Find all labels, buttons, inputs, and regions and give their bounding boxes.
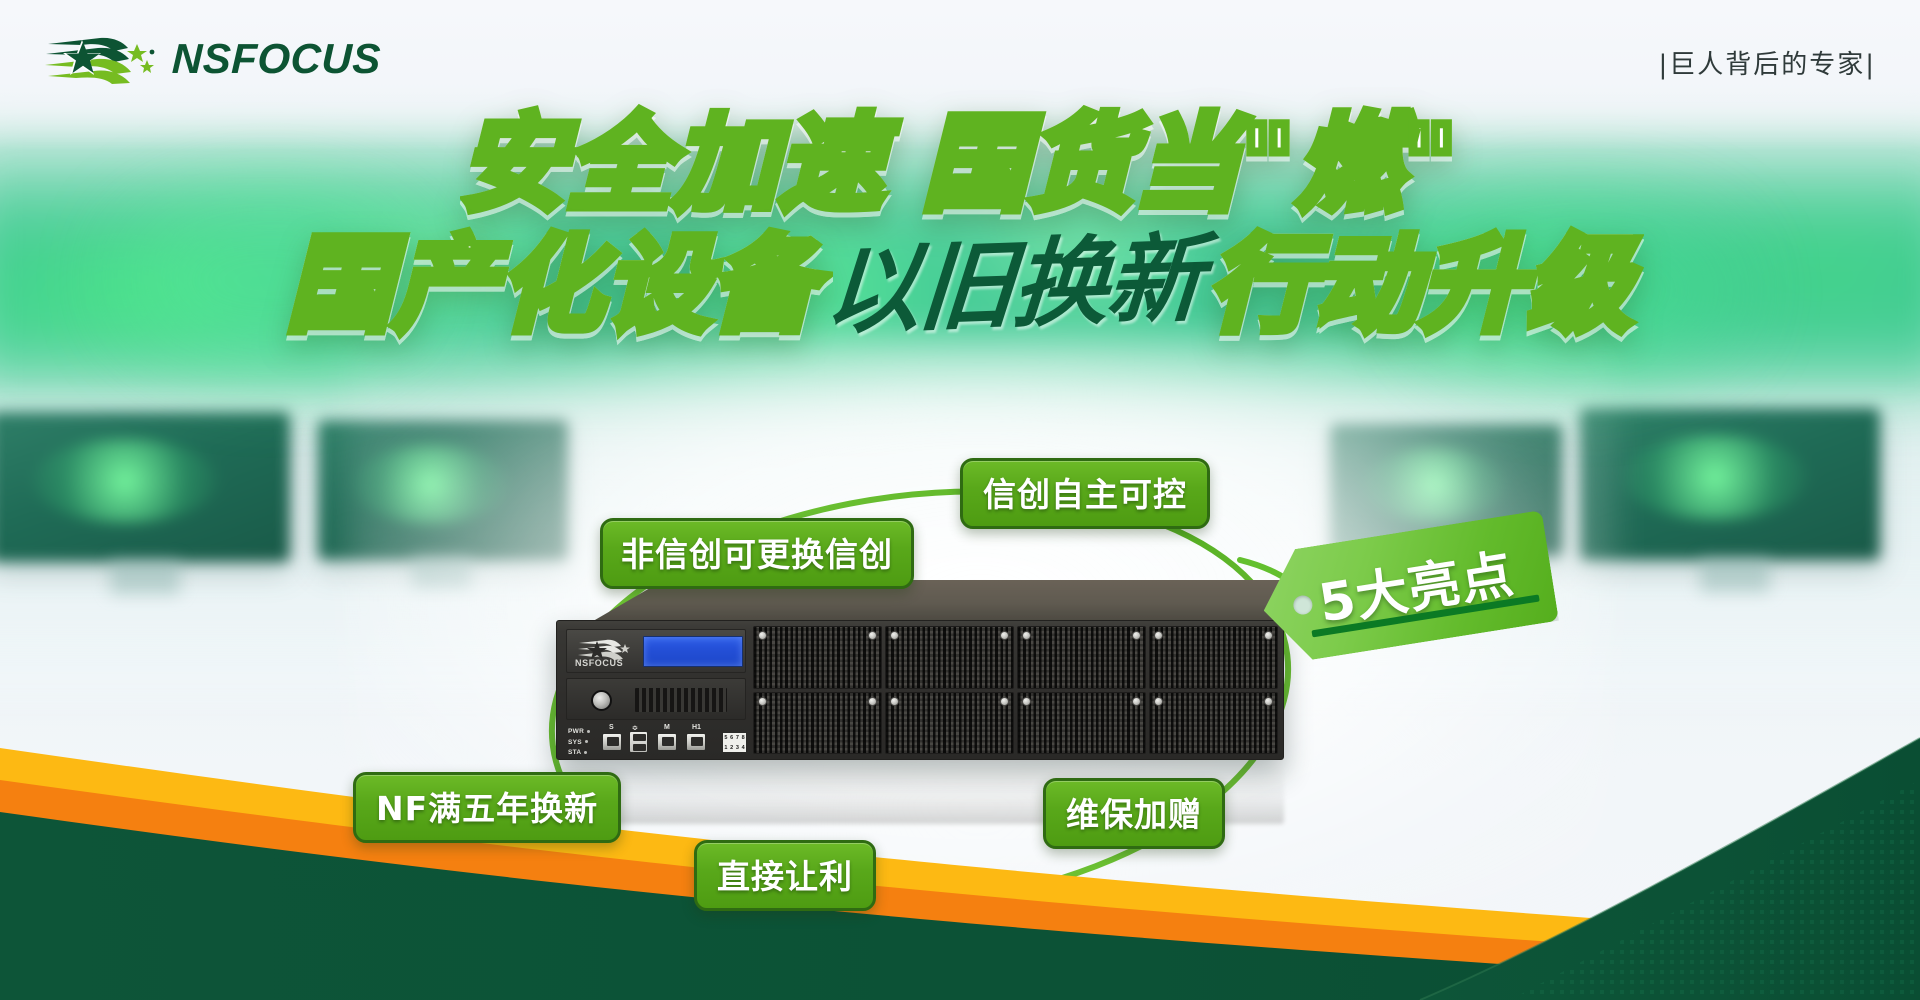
headline-line-2: 国产化设备 以旧换新 行动升级	[0, 233, 1920, 337]
monitor-stand	[110, 560, 180, 594]
bottom-wave-decoration	[0, 640, 1920, 1000]
screw-icon	[890, 631, 899, 640]
screw-icon	[1022, 631, 1031, 640]
headline-line-2-prefix: 国产化设备	[287, 233, 817, 337]
screw-icon	[1154, 631, 1163, 640]
monitor-silhouette	[1580, 408, 1880, 560]
screw-icon	[1000, 631, 1009, 640]
promo-banner: NSFOCUS |巨人背后的专家| 安全加速 国货当"燃" 国产化设备 以旧换新…	[0, 0, 1920, 1000]
nsfocus-flag-star-icon	[42, 32, 158, 86]
headline-line-1-text: 安全加速 国货当"燃"	[461, 103, 1460, 225]
feature-pill-replace-with-xinchuang[interactable]: 非信创可更换信创	[600, 518, 914, 589]
headline-block: 安全加速 国货当"燃" 国产化设备 以旧换新 行动升级	[0, 112, 1920, 337]
headline-line-1: 安全加速 国货当"燃"	[0, 112, 1920, 217]
brand-name: NSFOCUS	[171, 35, 382, 83]
feature-pill-nf-five-year-renewal[interactable]: NF满五年换新	[353, 772, 621, 843]
feature-pill-direct-discount[interactable]: 直接让利	[694, 840, 876, 911]
headline-calligraphy: 以旧换新	[822, 230, 1205, 339]
monitor-stand	[1700, 558, 1770, 592]
screw-icon	[1132, 631, 1141, 640]
headline-line-2-suffix: 行动升级	[1209, 233, 1633, 337]
feature-pill-extra-maintenance[interactable]: 维保加赠	[1043, 778, 1225, 849]
brand-logo[interactable]: NSFOCUS	[42, 32, 381, 86]
monitor-silhouette	[0, 412, 290, 562]
feature-pill-xinchuang-autonomous[interactable]: 信创自主可控	[960, 458, 1210, 529]
screw-icon	[868, 631, 877, 640]
brand-tagline: |巨人背后的专家|	[1658, 44, 1876, 81]
screw-icon	[758, 631, 767, 640]
